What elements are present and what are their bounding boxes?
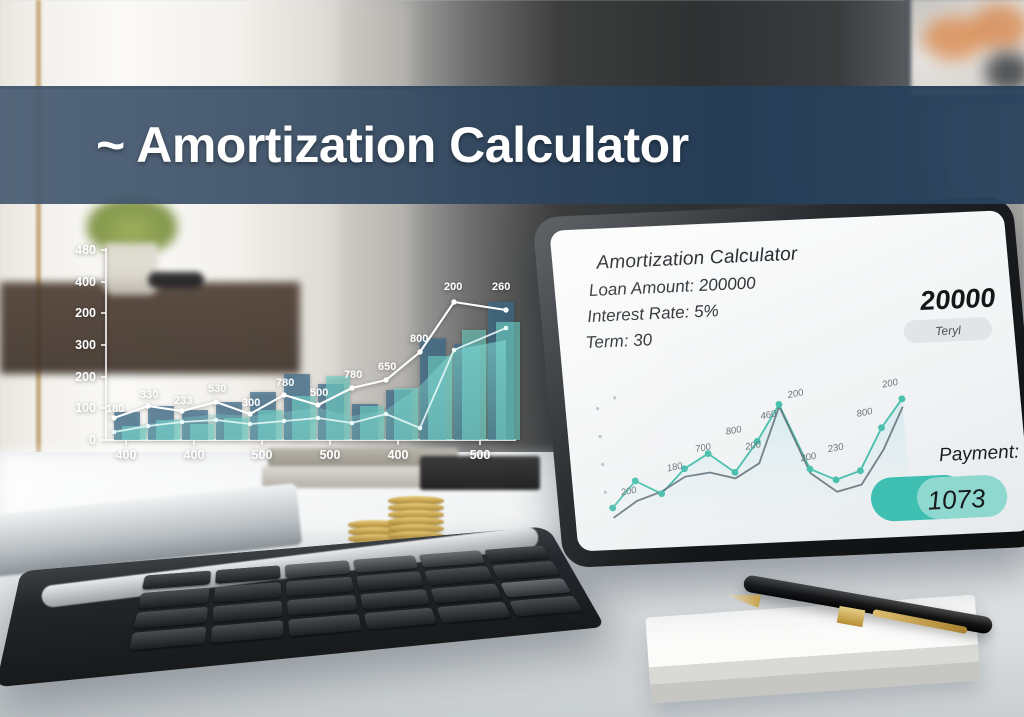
- point-label: 300: [242, 397, 260, 409]
- tablet-term-pill[interactable]: Teryl: [903, 317, 993, 344]
- tablet-field-term: Term: 30: [585, 330, 653, 353]
- tablet-point-label: 800: [856, 406, 875, 420]
- y-tick-label: 0: [89, 433, 96, 447]
- title-banner: ~ Amortization Calculator: [0, 86, 1024, 204]
- y-tick-label: 200: [75, 370, 96, 384]
- point-label: 200: [444, 281, 462, 293]
- point-label: 180: [106, 403, 124, 415]
- y-tick-label: 300: [75, 338, 96, 352]
- y-tick-label: 200: [75, 306, 96, 320]
- overlay-chart: 480 400 200 300 200 100 0: [60, 240, 520, 470]
- point-label: 330: [140, 389, 158, 401]
- tablet-screen[interactable]: Amortization Calculator Loan Amount: 200…: [549, 210, 1024, 551]
- point-label: 530: [208, 383, 226, 395]
- x-tick-label: 400: [388, 448, 409, 462]
- point-label: 233: [174, 395, 192, 407]
- point-label: 260: [492, 281, 510, 293]
- tablet-payment-label: Payment:: [938, 442, 1020, 468]
- tablet-point-label: 200: [786, 387, 806, 401]
- tablet-point-label: 200: [880, 377, 900, 391]
- window-mullion-icon: [36, 0, 41, 470]
- y-axis-ticks: 480 400 200 300 200 100 0: [75, 243, 106, 447]
- x-tick-label: 500: [470, 448, 491, 462]
- x-tick-label: 500: [252, 448, 273, 462]
- point-label: 780: [344, 369, 362, 381]
- tablet-device[interactable]: Amortization Calculator Loan Amount: 200…: [532, 196, 1024, 568]
- y-tick-label: 100: [75, 401, 96, 415]
- x-tick-label: 400: [184, 448, 205, 462]
- tablet-term-pill-label: Teryl: [903, 317, 993, 344]
- point-label: 500: [310, 387, 328, 399]
- x-axis-ticks: 400 400 500 500 400 500: [116, 440, 491, 462]
- page-title: ~ Amortization Calculator: [96, 116, 689, 174]
- tablet-app-title: Amortization Calculator: [595, 244, 798, 275]
- tablet-big-value: 20000: [919, 283, 997, 317]
- y-tick-label: 480: [75, 243, 96, 257]
- art-blob: [971, 4, 1024, 50]
- tablet-field-interest-rate: Interest Rate: 5%: [586, 301, 719, 327]
- tablet-payment-value: 1073: [926, 483, 987, 516]
- point-label: 800: [410, 333, 428, 345]
- tablet-point-label: 200: [798, 451, 818, 465]
- tablet-field-loan-amount: Loan Amount: 200000: [588, 274, 756, 301]
- tablet-point-label: 230: [826, 441, 846, 455]
- point-label: 780: [276, 377, 294, 389]
- x-tick-label: 500: [320, 448, 341, 462]
- point-label: 650: [378, 361, 396, 373]
- y-tick-label: 400: [75, 275, 96, 289]
- x-tick-label: 400: [116, 448, 137, 462]
- screenshot-scene: Amortization Calculator Loan Amount: 200…: [0, 0, 1024, 717]
- tablet-point-label: 800: [725, 424, 744, 438]
